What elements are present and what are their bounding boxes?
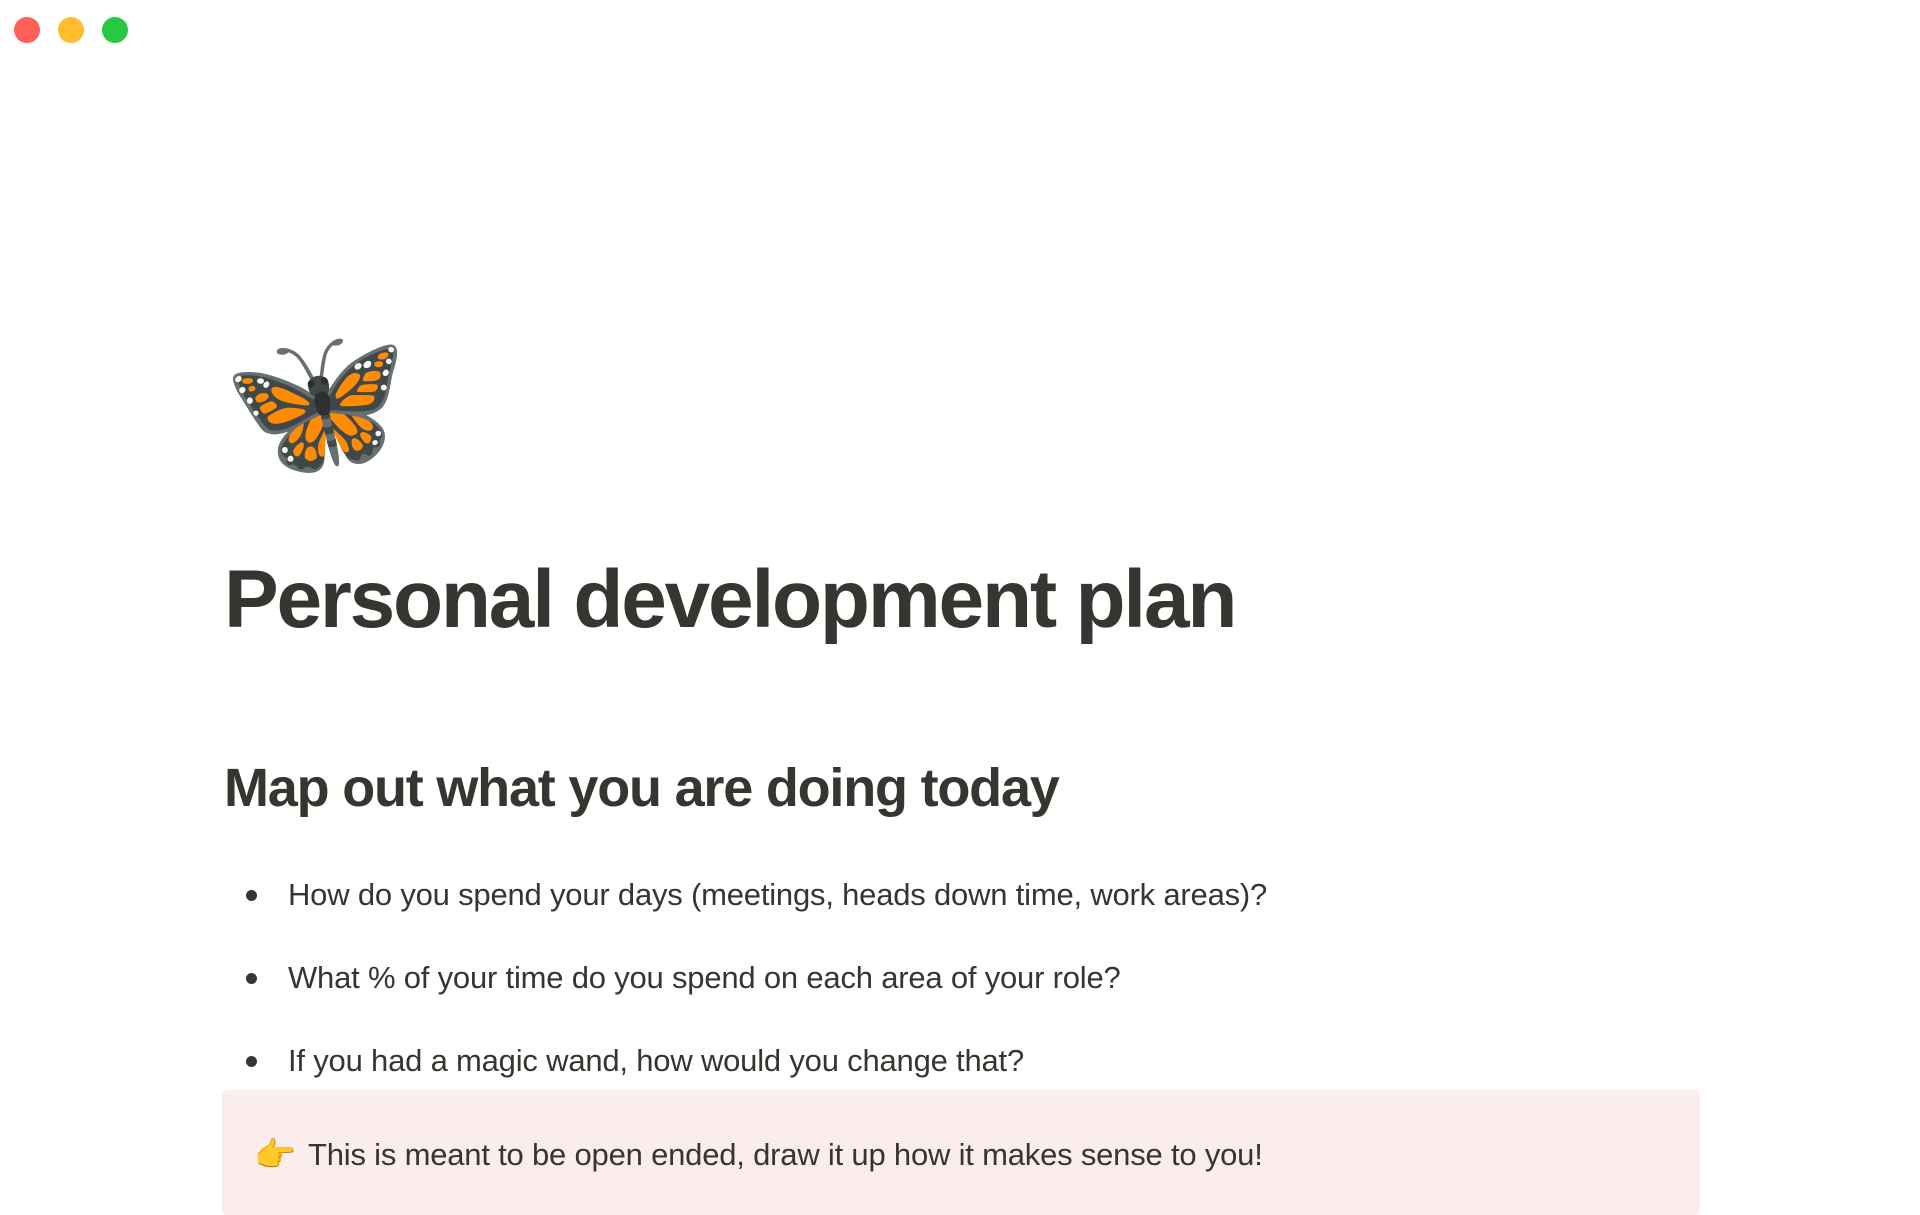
- pointing-right-hand-emoji: 👉: [254, 1138, 308, 1172]
- question-bullet-list: How do you spend your days (meetings, he…: [224, 874, 1704, 1123]
- callout-block[interactable]: 👉 This is meant to be open ended, draw i…: [222, 1090, 1700, 1215]
- list-item[interactable]: If you had a magic wand, how would you c…: [224, 1040, 1704, 1082]
- list-item-text: What % of your time do you spend on each…: [288, 960, 1121, 995]
- list-item[interactable]: How do you spend your days (meetings, he…: [224, 874, 1704, 916]
- callout-text: This is meant to be open ended, draw it …: [308, 1135, 1263, 1175]
- section-heading[interactable]: Map out what you are doing today: [224, 756, 1059, 821]
- page-title[interactable]: Personal development plan: [224, 553, 1235, 647]
- bullet-point-icon: [246, 1056, 257, 1067]
- list-item-text: If you had a magic wand, how would you c…: [288, 1043, 1024, 1078]
- list-item[interactable]: What % of your time do you spend on each…: [224, 957, 1704, 999]
- butterfly-emoji[interactable]: 🦋: [222, 312, 402, 492]
- list-item-text: How do you spend your days (meetings, he…: [288, 877, 1267, 912]
- document-page: 🦋 Personal development plan Map out what…: [0, 0, 1920, 1200]
- bullet-point-icon: [246, 890, 257, 901]
- bullet-point-icon: [246, 973, 257, 984]
